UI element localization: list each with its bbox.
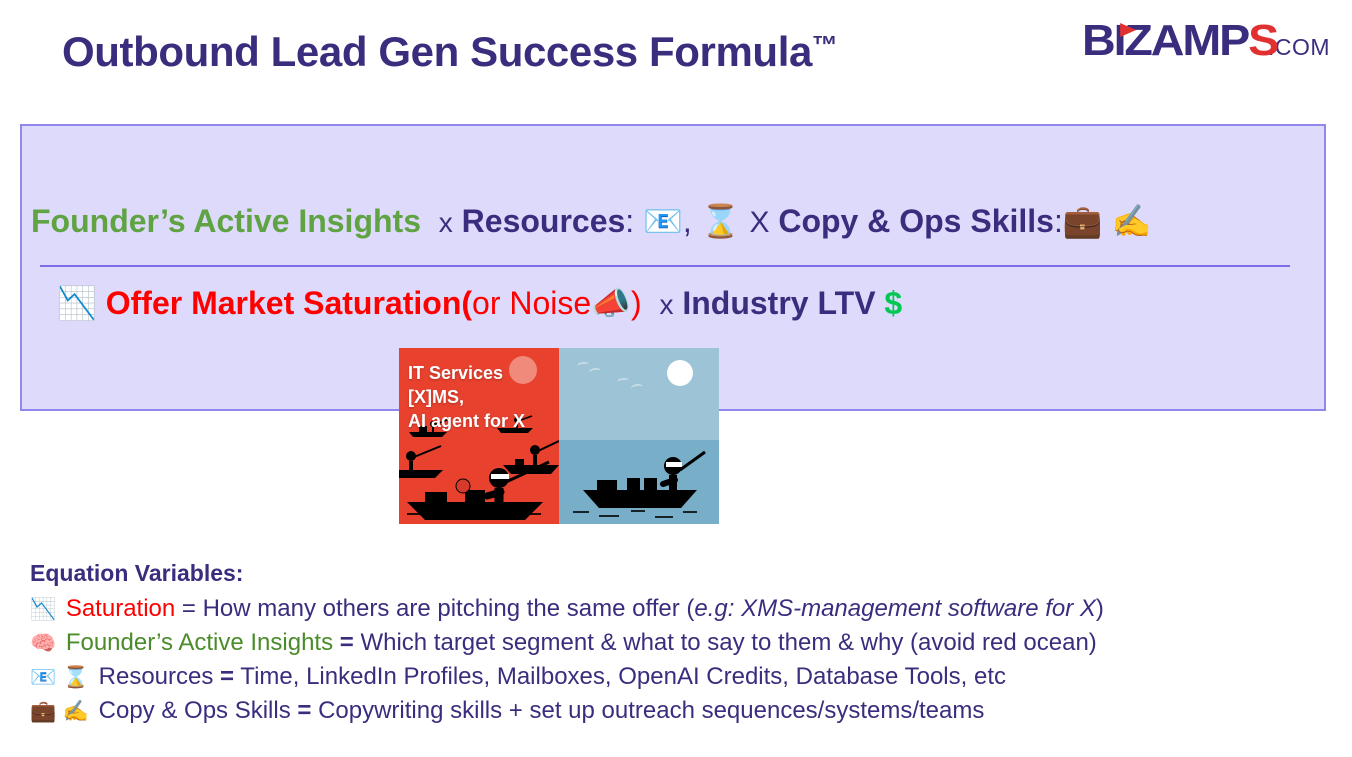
main-fishing-boat-icon [581,446,709,512]
blue-ocean-half [559,348,719,524]
equation-variables-title: Equation Variables: [30,560,1330,587]
megaphone-icon: 📣 [591,284,631,322]
term-copy-ops-skills: Copy & Ops Skills [778,203,1054,239]
formula-divider [40,265,1290,267]
main-fishing-boat-icon [403,456,553,524]
bird-icon [617,377,630,386]
bird-icon [577,361,590,370]
red-blue-ocean-image: IT Services [X]MS, AI agent for X [399,348,719,524]
bizamps-logo[interactable]: BIZAMPS .COM [1082,16,1330,70]
formula-line-denominator: 📉 Offer Market Saturation(or Noise📣) x I… [57,284,902,322]
colon-copy-ops: : [1054,203,1063,239]
logo-wordmark: BIZAMPS [1082,16,1277,66]
term-or-noise: or Noise [472,285,591,321]
page-header: Outbound Lead Gen Success Formula™ BIZAM… [0,0,1352,108]
variable-term: Copy & Ops Skills [99,697,291,724]
variable-row: 📉 Saturation = How many others are pitch… [30,592,1330,626]
variable-description: Which target segment & what to say to th… [354,629,1097,656]
equals-sign: = [220,663,234,690]
blue-ocean-sky [559,348,719,440]
brain-icon: 🧠 [30,631,56,655]
caption-line-3: AI agent for X [408,410,525,434]
variable-example: e.g: XMS-management software for X [694,595,1096,622]
logo-part-a: B [1082,16,1114,65]
variable-row: 💼 ✍️ Copy & Ops Skills = Copywriting ski… [30,694,1330,728]
term-resources: Resources [462,203,626,239]
operator-multiply-1: x [439,207,453,238]
paren-open: ( [461,285,472,321]
variable-row: 📧 ⌛ Resources = Time, LinkedIn Profiles,… [30,660,1330,694]
chart-decreasing-icon: 📉 [57,284,97,322]
bird-icon [631,383,644,392]
logo-suffix: .COM [1268,34,1330,61]
briefcase-icon: 💼 [1063,202,1103,240]
email-icon: 📧 [643,202,683,240]
red-arrow-icon [1120,23,1136,37]
briefcase-writing-hand-icon: 💼 ✍️ [30,699,89,723]
caption-line-1: IT Services [408,362,525,386]
variable-description: Copywriting skills + set up outreach seq… [311,697,984,724]
caption-line-2: [X]MS, [408,386,525,410]
dollar-icon: $ [884,285,902,321]
variable-description: Time, LinkedIn Profiles, Mailboxes, Open… [234,663,1006,690]
logo-part-c: S [1248,16,1277,65]
variable-term: Founder’s Active Insights [66,629,333,656]
writing-hand-icon: ✍️ [1112,202,1152,240]
equals-sign: = [340,629,354,656]
comma-separator: , [683,203,692,239]
variable-term: Resources [99,663,214,690]
chart-decreasing-icon: 📉 [30,597,56,621]
ocean-image-caption: IT Services [X]MS, AI agent for X [408,362,525,434]
operator-multiply-3: x [659,289,673,320]
formula-line-numerator: Founder’s Active Insights x Resources: 📧… [31,202,1151,240]
term-industry-ltv: Industry LTV [682,285,875,321]
paren-close: ) [631,285,642,321]
variable-row: 🧠 Founder’s Active Insights = Which targ… [30,626,1330,660]
hourglass-icon: ⌛ [701,202,741,240]
variable-term: Saturation [66,595,175,622]
equals-sign: = [182,595,196,622]
page-title-text: Outbound Lead Gen Success Formula [62,28,812,75]
trademark-symbol: ™ [812,30,838,60]
equation-variables-section: Equation Variables: 📉 Saturation = How m… [30,560,1330,728]
equals-sign: = [297,697,311,724]
term-founders-active-insights: Founder’s Active Insights [31,203,421,239]
blue-ocean-moon-icon [667,360,693,386]
operator-multiply-2: X [749,206,769,239]
term-offer-market-saturation: Offer Market Saturation [106,285,462,321]
colon-resources: : [625,203,634,239]
page-title: Outbound Lead Gen Success Formula™ [62,28,838,76]
bird-icon [589,367,602,376]
variable-description-end: ) [1096,595,1104,622]
variable-description: How many others are pitching the same of… [196,595,694,622]
email-hourglass-icon: 📧 ⌛ [30,665,89,689]
